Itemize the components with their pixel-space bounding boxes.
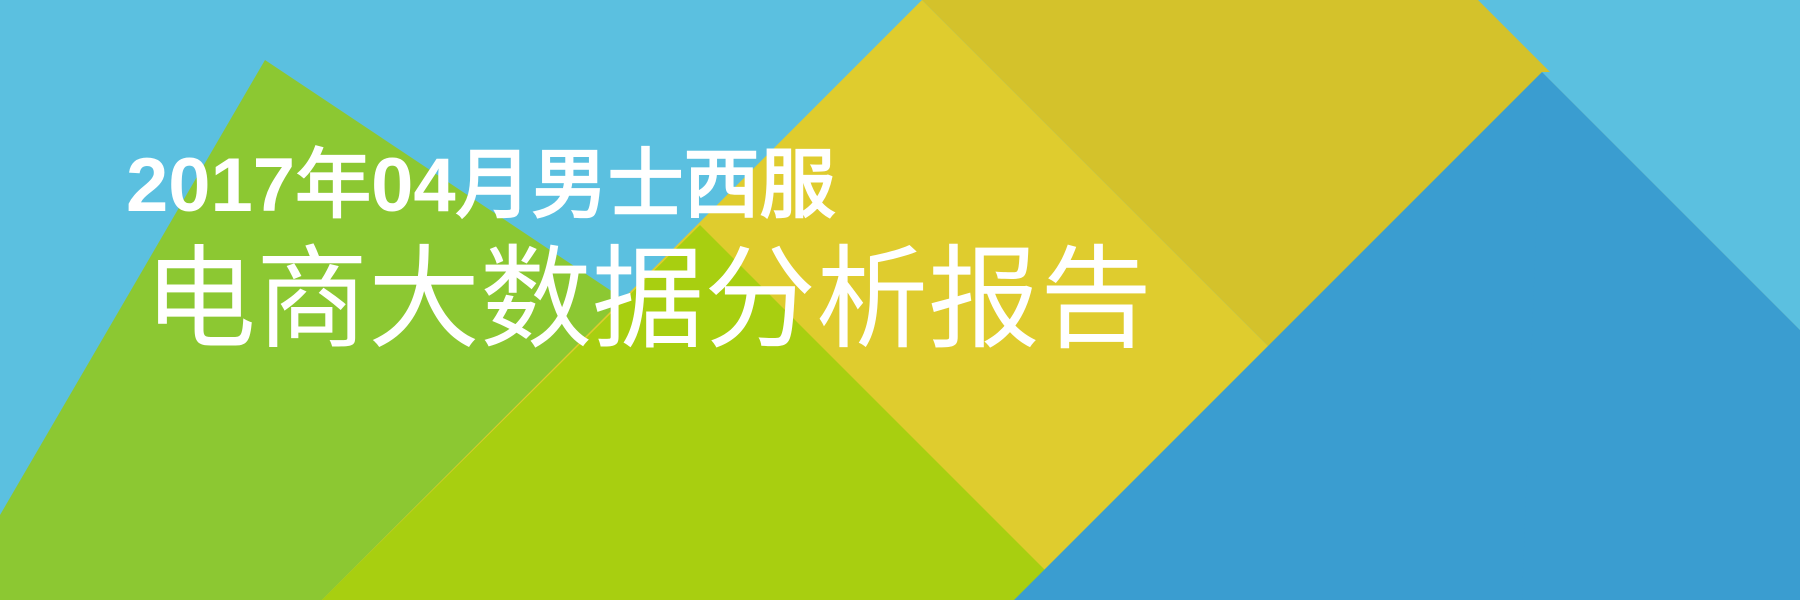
report-cover-banner: 2017年04月男士西服 电商大数据分析报告 — [0, 0, 1800, 600]
background-graphic — [0, 0, 1800, 600]
